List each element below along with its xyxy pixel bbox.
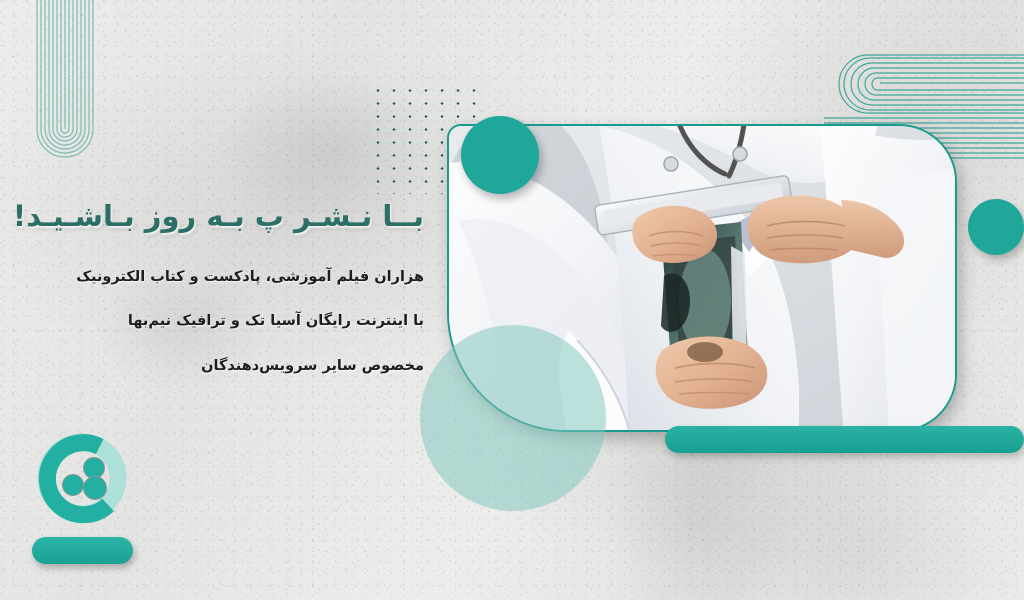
teal-circle-decoration [461,116,539,194]
subtitle-line-3: مخصوص سایر سرویس‌دهندگان [14,358,424,374]
page-title: بــا نـشـر پ بـه روز بـاشـیـد! [14,199,424,233]
teal-circle-right-decoration [968,199,1024,255]
promo-banner: بــا نـشـر پ بـه روز بـاشـیـد! هزاران فی… [0,0,1024,600]
subtitle-line-1: هزاران فیلم آموزشی، پادکست و کتاب الکترو… [14,269,424,285]
logo-bar [32,537,133,564]
soft-mint-circle-decoration [420,325,606,511]
subtitle-line-2: با اینترنت رایگان آسیا تک و ترافیک نیم‌ب… [14,313,424,329]
logo-icon[interactable] [36,432,128,524]
teal-rounded-bar-decoration [665,426,1024,453]
nested-u-lines-decoration [33,0,97,164]
